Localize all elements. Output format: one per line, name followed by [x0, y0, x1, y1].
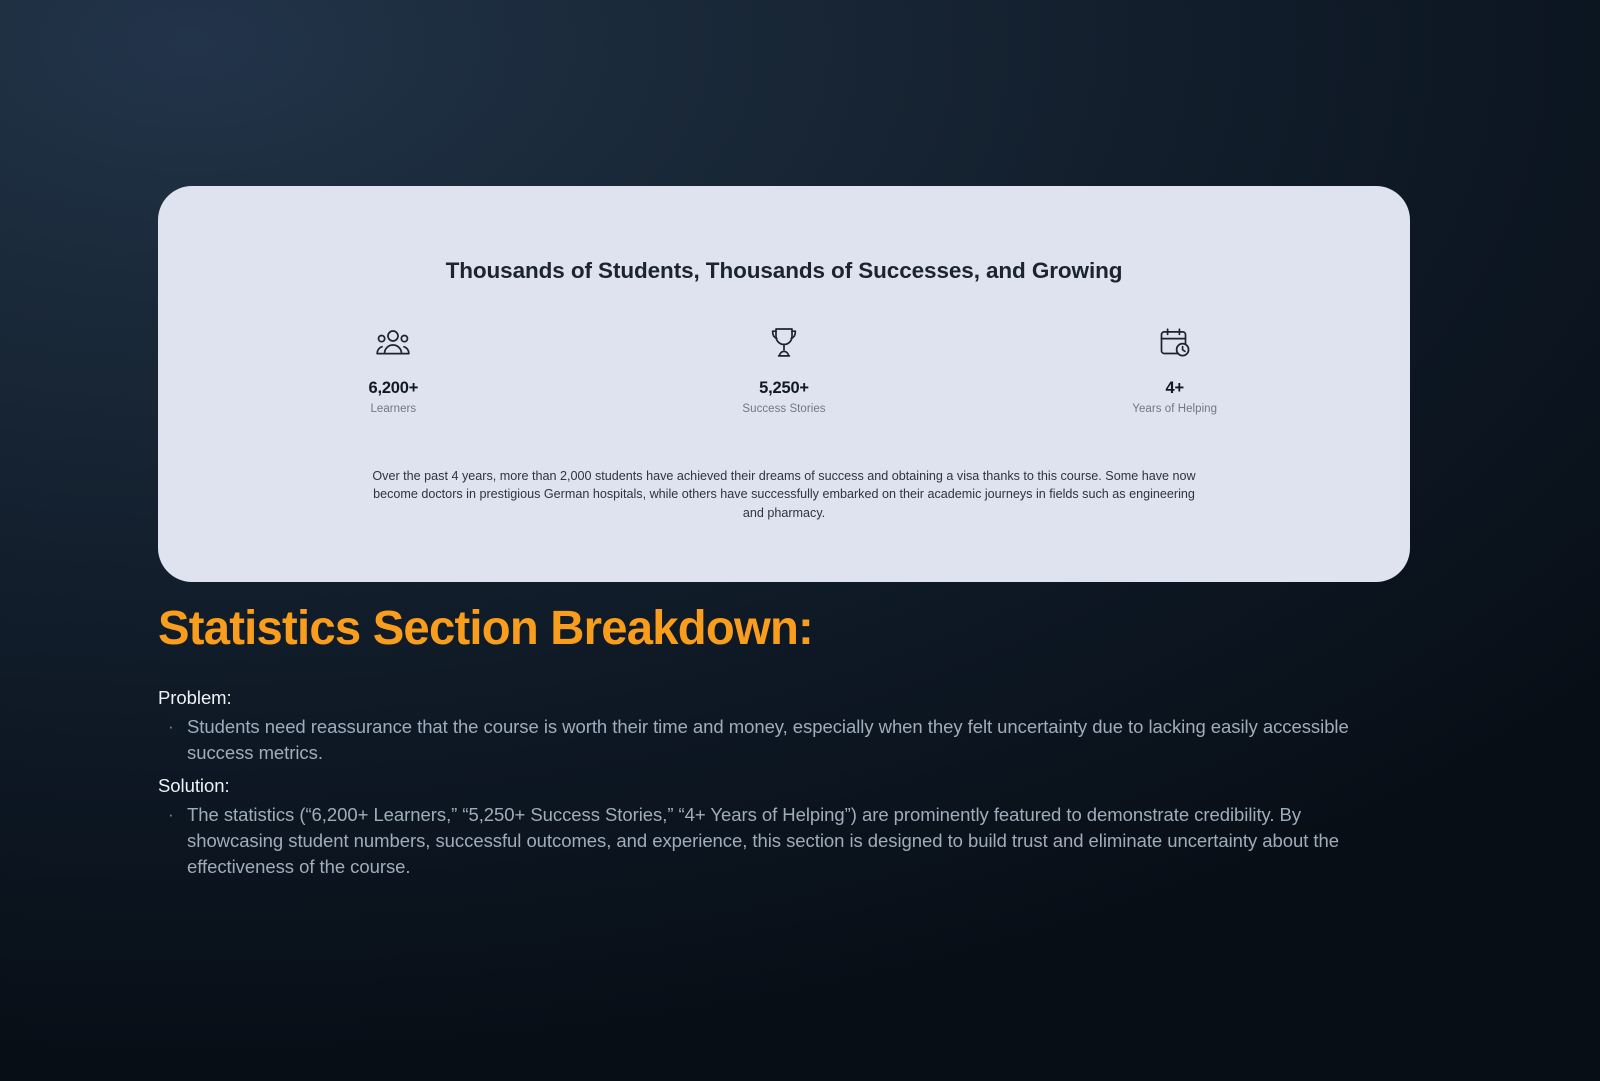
problem-bullet-list: · Students need reassurance that the cou… [158, 714, 1408, 766]
list-item-text: The statistics (“6,200+ Learners,” “5,25… [187, 802, 1399, 880]
stat-label: Learners [370, 403, 416, 415]
bullet-marker-icon: · [168, 802, 187, 828]
statistics-card: Thousands of Students, Thousands of Succ… [158, 186, 1410, 582]
solution-bullet-list: · The statistics (“6,200+ Learners,” “5,… [158, 802, 1408, 880]
stat-label: Success Stories [742, 403, 825, 415]
stat-item-success-stories: 5,250+ Success Stories [589, 326, 980, 415]
list-item: · The statistics (“6,200+ Learners,” “5,… [158, 802, 1408, 880]
list-item-text: Students need reassurance that the cours… [187, 714, 1399, 766]
card-title: Thousands of Students, Thousands of Succ… [158, 258, 1410, 284]
stat-value: 5,250+ [759, 379, 809, 398]
trophy-icon [769, 326, 799, 360]
statistics-row: 6,200+ Learners 5,250+ Success Stories [158, 326, 1410, 415]
stat-value: 6,200+ [368, 379, 418, 398]
calendar-clock-icon [1159, 326, 1191, 360]
breakdown-heading: Statistics Section Breakdown: [158, 604, 1389, 655]
stat-item-learners: 6,200+ Learners [198, 326, 589, 415]
stat-item-years-of-helping: 4+ Years of Helping [979, 326, 1370, 415]
people-group-icon [376, 326, 410, 360]
stat-value: 4+ [1165, 379, 1183, 398]
breakdown-section: Statistics Section Breakdown: Problem: ·… [158, 604, 1408, 880]
stat-label: Years of Helping [1132, 403, 1217, 415]
bullet-marker-icon: · [168, 714, 187, 740]
list-item: · Students need reassurance that the cou… [158, 714, 1408, 766]
card-description: Over the past 4 years, more than 2,000 s… [369, 467, 1199, 522]
problem-label: Problem: [158, 687, 1408, 709]
solution-label: Solution: [158, 775, 1408, 797]
